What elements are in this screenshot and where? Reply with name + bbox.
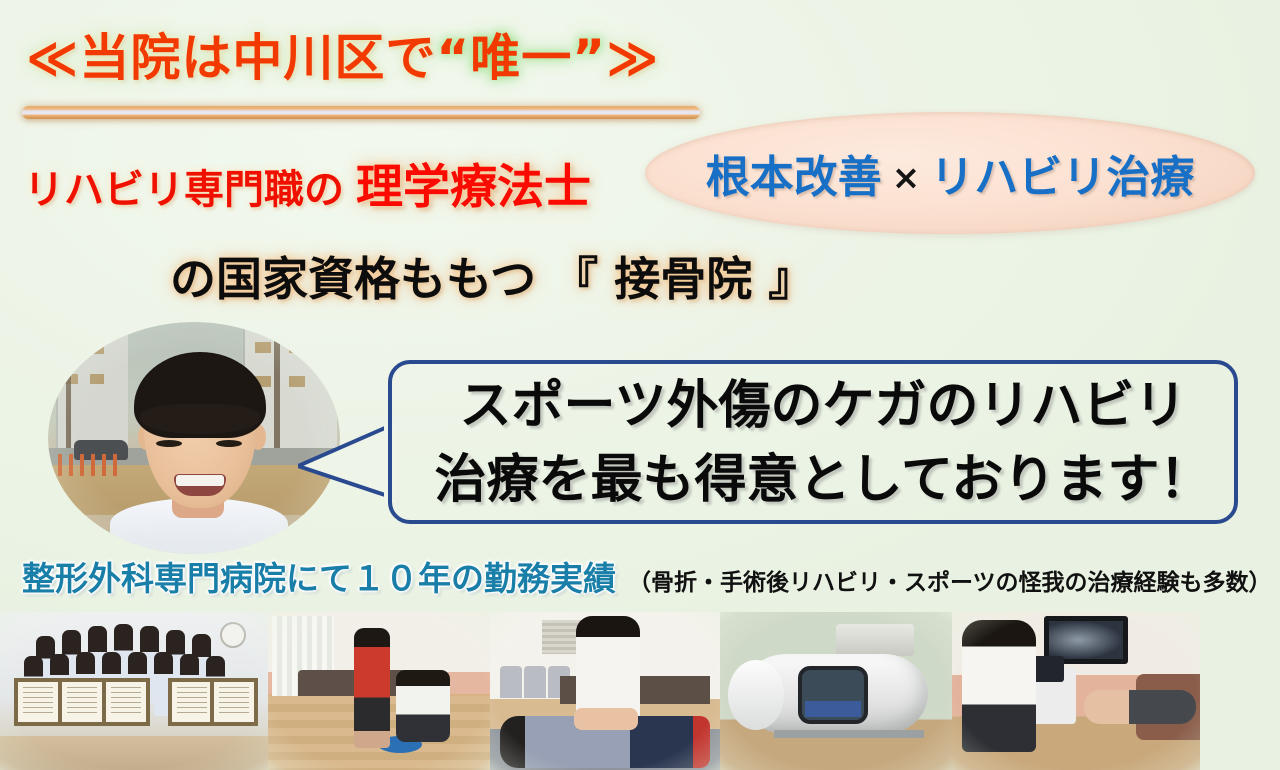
title-open-bracket: ≪ [26,29,79,87]
wall-clock-icon [220,622,246,648]
certificate-frame [58,678,106,726]
photo-balance-disc-training [268,612,490,770]
photo-staff-group-with-certificates [0,612,268,770]
experience-caption: 整形外科専門病院にて１０年の勤務実績（骨折・手術後リハビリ・スポーツの怪我の治療… [22,552,1272,600]
title-main-text: 当院は中川区で [79,29,436,87]
concept-separator-icon: × [892,158,921,198]
photo-manual-therapy-treatment [490,612,720,770]
speech-bubble-tail-icon [298,418,396,502]
capsule-stand [774,730,924,738]
page-title: ≪当院は中川区で“唯一”≫ [26,18,659,90]
title-quote-close: ” [572,29,606,87]
portrait-tree [274,332,280,460]
concept-right-label: リハビリ治療 [930,152,1194,203]
title-close-bracket: ≫ [606,29,659,87]
waiting-chair [500,666,522,698]
portrait-fence [58,454,118,476]
portrait-window [289,342,305,353]
concept-left-label: 根本改善 [706,152,882,203]
oxygen-capsule-door [728,660,784,730]
certificate-frame [210,678,258,726]
speech-bubble-line-1: スポーツ外傷のケガのリハビリ [408,370,1238,444]
portrait-eye [216,440,242,447]
divider-bar [22,106,700,119]
portrait-eye [156,440,182,447]
photo-strip [0,612,1280,770]
qualification-line: リハビリ専門職の理学療法士 [24,148,591,217]
therapist-examining [962,620,1036,752]
portrait-window [90,344,104,354]
qualification-highlight: 理学療法士 [356,160,591,215]
title-emphasis: 唯一 [470,29,572,87]
speech-bubble-text: スポーツ外傷のケガのリハビリ 治療を最も得意としております！ [408,370,1238,518]
patient-leg [1084,690,1196,724]
concept-badge: 根本改善×リハビリ治療 [645,112,1255,234]
chamber-control-panel [836,624,914,656]
title-quote-open: “ [436,29,470,87]
therapist-kneeling [396,670,450,742]
certificate-frame [168,678,216,726]
portrait-tree [66,340,71,458]
clinic-promo-poster: ≪当院は中川区で“唯一”≫ リハビリ専門職の理学療法士 の国家資格ももつ 『 接… [0,0,1280,770]
concept-badge-text: 根本改善×リハビリ治療 [706,141,1195,205]
waiting-chair [524,666,546,698]
portrait-smiling-mouth [174,474,226,496]
certificate-frame [102,678,150,726]
photo-floor [0,736,268,770]
experience-main-text: 整形外科専門病院にて１０年の勤務実績 [22,559,616,598]
therapist-hands [574,708,638,730]
therapist-standing [576,616,640,720]
clinic-type-line: の国家資格ももつ 『 接骨院 』 [170,243,814,309]
photo-hyperbaric-oxygen-chamber [720,612,952,770]
certificate-frame [14,678,62,726]
portrait-window [289,376,305,387]
qualification-prefix: リハビリ専門職の [24,167,344,213]
portrait-window [90,374,104,384]
patient-standing [354,628,390,748]
experience-sub-text: （骨折・手術後リハビリ・スポーツの怪我の治療経験も多数） [628,570,1272,596]
capsule-window [798,666,868,724]
portrait-window [255,342,271,353]
speech-bubble-line-2: 治療を最も得意としております！ [408,444,1238,518]
photo-ultrasound-ankle-examination [952,612,1200,770]
practitioner-portrait-photo [48,322,340,554]
